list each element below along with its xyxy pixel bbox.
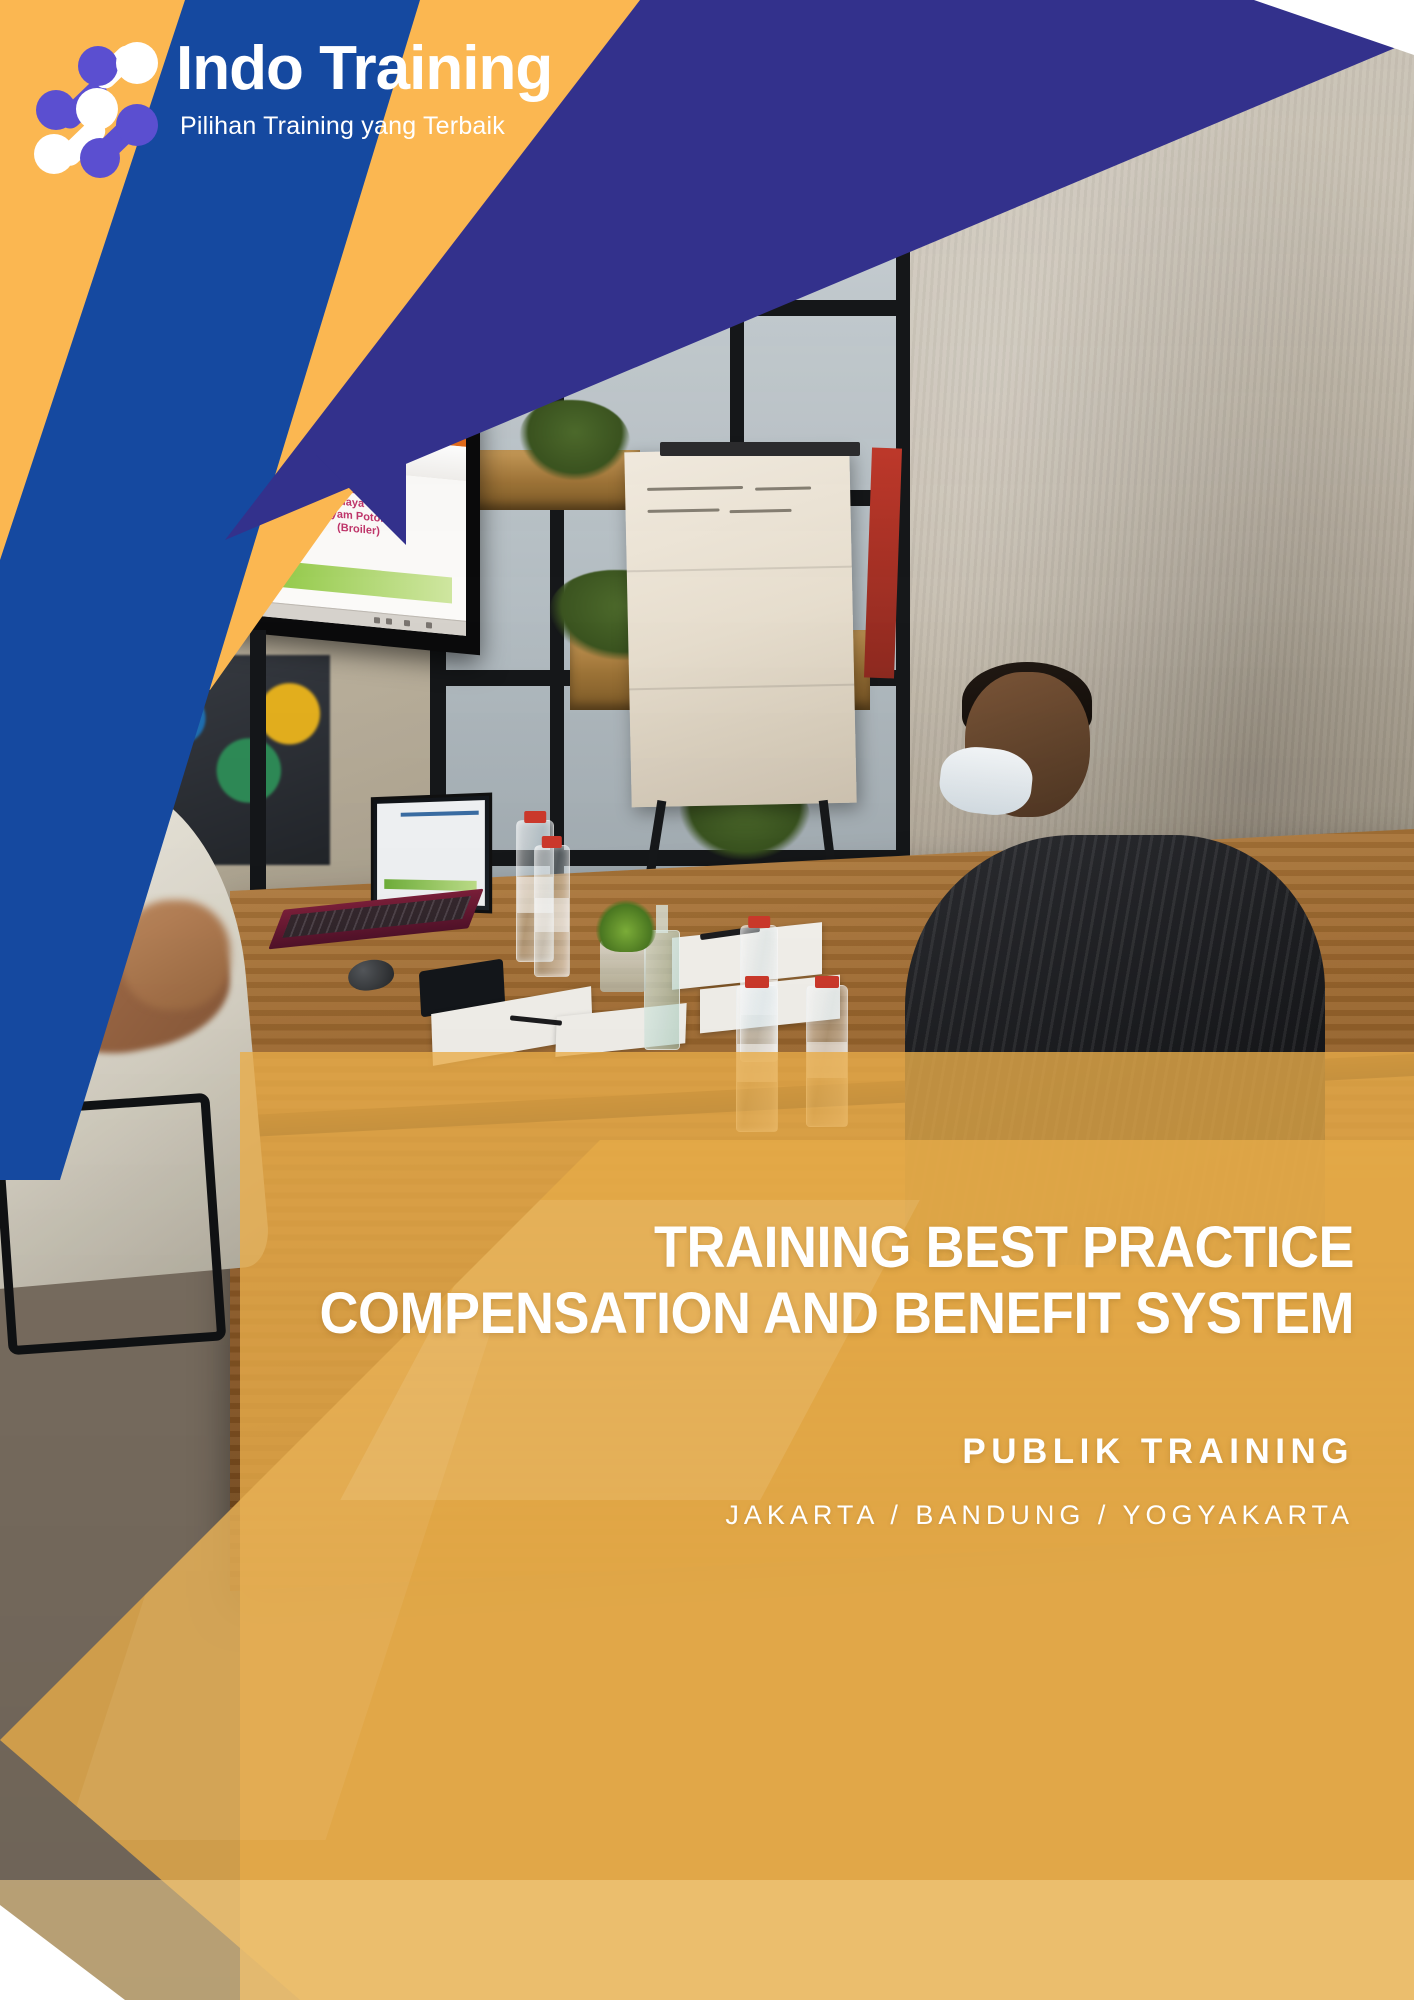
lower-light-band bbox=[0, 1880, 1414, 2000]
subtitle: PUBLIK TRAINING bbox=[174, 1432, 1354, 1472]
title-line-1: TRAINING BEST PRACTICE bbox=[257, 1218, 1354, 1278]
brand-tagline: Pilihan Training yang Terbaik bbox=[180, 114, 776, 139]
brochure-cover-page: FileHomeInsertDesign TransitionsAnimatio… bbox=[0, 0, 1414, 2000]
brand-header: Indo Training Pilihan Training yang Terb… bbox=[0, 0, 1414, 200]
page-title: TRAINING BEST PRACTICE COMPENSATION AND … bbox=[174, 1218, 1354, 1344]
brand-name: Indo Training bbox=[176, 38, 776, 100]
wordmark: Indo Training Pilihan Training yang Terb… bbox=[176, 38, 776, 139]
title-line-2: COMPENSATION AND BENEFIT SYSTEM bbox=[257, 1284, 1354, 1344]
cities-list: JAKARTA / BANDUNG / YOGYAKARTA bbox=[174, 1500, 1354, 1531]
molecule-network-icon bbox=[24, 28, 174, 178]
